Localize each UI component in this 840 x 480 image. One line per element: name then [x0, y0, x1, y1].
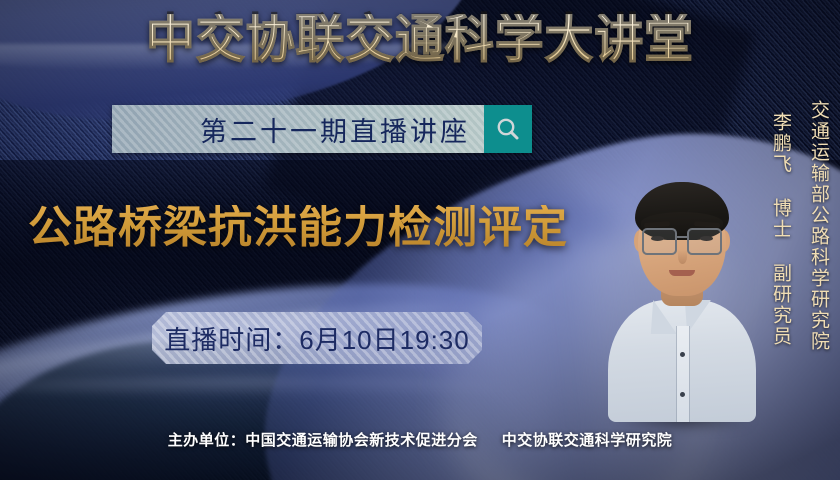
broadcast-time-badge: 直播时间：6月10日19:30	[152, 312, 482, 364]
lecture-headline: 公路桥梁抗洪能力检测评定	[28, 205, 568, 251]
footer-organizer-2: 中交协联交通科学研究院	[502, 432, 673, 449]
footer-organizer-1: 中国交通运输协会新技术促进分会	[245, 432, 478, 449]
livestream-poster: 中交协联交通科学大讲堂 第二十一期直播讲座 公路桥梁抗洪能力检测评定 直播时间：…	[0, 0, 840, 480]
broadcast-time-text: 直播时间：6月10日19:30	[164, 320, 469, 357]
portrait-shirt-placket	[676, 326, 690, 422]
subtitle-bar-fill: 第二十一期直播讲座	[112, 105, 484, 153]
portrait-shirt-button	[680, 392, 685, 397]
portrait-glasses-lens-right	[687, 228, 722, 255]
footer-organizers: 主办单位：中国交通运输协会新技术促进分会中交协联交通科学研究院	[0, 429, 840, 450]
subtitle-text: 第二十一期直播讲座	[200, 110, 470, 149]
portrait-glasses	[641, 228, 723, 252]
portrait-shirt-button	[680, 352, 685, 357]
portrait-shirt	[608, 300, 756, 422]
subtitle-bar: 第二十一期直播讲座	[112, 105, 532, 153]
page-title: 中交协联交通科学大讲堂	[25, 14, 815, 66]
speaker-portrait	[606, 172, 758, 422]
speaker-name-title: 李鹏飞 博士 副研究员	[767, 112, 794, 347]
footer-prefix: 主办单位：	[168, 432, 246, 449]
portrait-nose	[678, 250, 687, 264]
speaker-organization: 交通运输部公路科学研究院	[805, 100, 832, 352]
portrait-glasses-lens-left	[642, 228, 677, 255]
portrait-glasses-bridge	[675, 236, 689, 238]
search-icon[interactable]	[484, 105, 532, 153]
portrait-mouth	[669, 270, 695, 276]
